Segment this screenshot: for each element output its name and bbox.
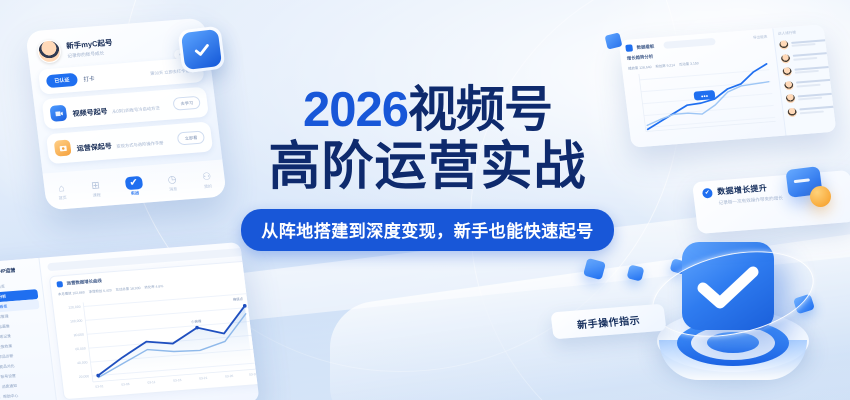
check-circle-icon: ✔ xyxy=(702,187,713,198)
legend-item[interactable]: 转化率 4.8% xyxy=(144,283,163,289)
list-item[interactable] xyxy=(784,77,837,90)
hero-3d-check xyxy=(645,238,820,390)
avatar xyxy=(779,40,789,50)
sidebar-item-label: 账号设置 xyxy=(0,373,16,379)
svg-text:03-11: 03-11 xyxy=(147,380,156,385)
avatar xyxy=(787,107,797,117)
legend-item[interactable]: 本月播放 102,880 xyxy=(58,289,85,296)
sidebar-item-label: 帮助中心 xyxy=(3,393,19,399)
grid-icon: ⊞ xyxy=(91,180,101,192)
legend-item[interactable]: 净增粉丝 6,420 xyxy=(88,287,112,294)
dashboard-left-main: 运营数据增长曲线 本月播放 102,880 净增粉丝 6,420 互动总量 18… xyxy=(39,242,259,400)
svg-text:120,000: 120,000 xyxy=(68,305,81,310)
nav-label: 消息 xyxy=(169,186,178,193)
nav-label: 我的 xyxy=(203,183,213,190)
svg-text:03-26: 03-26 xyxy=(225,374,234,379)
contact-name xyxy=(793,52,834,61)
svg-text:100,000: 100,000 xyxy=(70,319,83,324)
banner-canvas: 新手myC起号 记录你的账号成长 心得分享 已认证 打卡 第30天 立即去打卡记… xyxy=(0,0,850,400)
svg-text:03-01: 03-01 xyxy=(95,384,104,389)
svg-text:03-06: 03-06 xyxy=(121,382,130,387)
svg-text:40,000: 40,000 xyxy=(77,360,88,365)
avatar xyxy=(782,67,792,77)
shield-check-icon: ✔ xyxy=(125,176,143,190)
tip-label: 新手操作指示 xyxy=(576,312,641,332)
list-item-button[interactable]: 立即看 xyxy=(177,130,205,145)
contact-name xyxy=(791,39,832,48)
brand-name: 数据看板 xyxy=(636,43,654,50)
subtitle-pill: 从阵地搭建到深度变现，新手也能快速起号 xyxy=(241,209,614,251)
card-title: 增长趋势分析 xyxy=(627,54,654,62)
search-input[interactable] xyxy=(663,38,716,49)
list-item-sub: 从0到1的账号冷启动方法 xyxy=(112,105,160,114)
dashboard-right: 数据看板 导出报表 增长趋势分析 播放量 128,640 粉丝数 9,214 互… xyxy=(619,24,837,147)
nav-item-messages[interactable]: ◷ 消息 xyxy=(167,174,178,193)
svg-text:80,000: 80,000 xyxy=(73,333,84,338)
sidebar-item-label: 增长看板 xyxy=(0,304,8,310)
list-item-sub: 变现方式与进阶操作手册 xyxy=(116,140,164,149)
list-item[interactable] xyxy=(787,104,836,117)
chart-card: 运营数据增长曲线 本月播放 102,880 净增粉丝 6,420 互动总量 18… xyxy=(49,260,260,400)
contact-name xyxy=(794,65,835,74)
contacts-title: 达人排行榜 xyxy=(778,28,830,37)
nav-label: 课程 xyxy=(92,192,101,199)
sphere-decoration xyxy=(810,186,831,207)
legend-item[interactable]: 粉丝数 9,214 xyxy=(655,62,675,69)
clock-icon: ◷ xyxy=(167,174,177,186)
check-app-icon xyxy=(178,26,226,74)
decorative-cube xyxy=(627,264,645,281)
sidebar-item-label: 竞品对比 xyxy=(0,364,15,370)
list-item[interactable] xyxy=(785,90,836,103)
sidebar-item-label: 趋势分析 xyxy=(0,294,6,300)
list-item[interactable] xyxy=(781,50,834,63)
bottom-navigation: ⌂ 首页 ⊞ 课程 ✔ 实战 ◷ 消息 ⚇ 我的 xyxy=(43,160,227,211)
sidebar-item-label: 作品诊断 xyxy=(0,354,14,360)
svg-text:03-31: 03-31 xyxy=(249,372,258,377)
nav-item-profile[interactable]: ⚇ 我的 xyxy=(202,171,213,190)
chart-icon xyxy=(56,281,63,287)
video-icon xyxy=(49,105,67,122)
right-dashboard-chart: ●●● xyxy=(629,62,779,139)
svg-text:●●●: ●●● xyxy=(701,93,709,99)
avatar xyxy=(36,39,62,64)
brand-icon xyxy=(625,44,633,51)
brand-name: 新手IP运营 xyxy=(0,267,16,276)
legend-item[interactable]: 播放量 128,640 xyxy=(628,64,652,71)
nav-item-home[interactable]: ⌂ 首页 xyxy=(57,183,67,201)
list-item-button[interactable]: 去学习 xyxy=(173,96,201,111)
contact-name xyxy=(799,106,836,115)
sidebar-item-label: 变现记录 xyxy=(0,334,11,340)
title-year: 2026 xyxy=(303,83,408,137)
svg-text:20,000: 20,000 xyxy=(79,374,90,379)
svg-text:03-21: 03-21 xyxy=(199,376,208,381)
sidebar-item-label: 粉丝画像 xyxy=(0,324,10,330)
card-title: 运营数据增长曲线 xyxy=(66,278,102,287)
sidebar-item-label: 数据总览 xyxy=(0,284,5,290)
list-item-title: 运营保起号 xyxy=(77,143,113,153)
title-line-1-rest: 视频号 xyxy=(408,83,552,137)
svg-text:03-16: 03-16 xyxy=(173,378,182,383)
monetize-icon xyxy=(54,139,72,156)
list-item[interactable]: 运营保起号 变现方式与进阶操作手册 立即看 xyxy=(46,121,213,164)
contact-name xyxy=(796,79,836,88)
chart-marker-label: 峰值点 xyxy=(232,296,243,302)
dashboard-left: ✔ 新手IP运营 数据总览 趋势分析 增长看板 内容管理 粉丝画像 变现记录 投… xyxy=(0,242,259,400)
dashboard-right-main: 数据看板 导出报表 增长趋势分析 播放量 128,640 粉丝数 9,214 互… xyxy=(619,28,786,147)
nav-label: 首页 xyxy=(58,195,67,202)
legend-item[interactable]: 互动总量 18,930 xyxy=(115,285,140,292)
brand: ✔ 新手IP运营 xyxy=(0,264,35,277)
decorative-cube xyxy=(583,258,606,280)
list-item-title: 视频号起号 xyxy=(72,108,108,118)
avatar xyxy=(785,94,795,104)
contact-name xyxy=(798,92,837,101)
sidebar-item-label: 投放效果 xyxy=(0,344,12,350)
chart-marker-label: 小高峰 xyxy=(191,318,202,324)
sidebar-item-label: 内容管理 xyxy=(0,314,9,320)
avatar xyxy=(781,54,791,64)
user-icon: ⚇ xyxy=(202,171,212,183)
nav-item-practice[interactable]: ✔ 实战 xyxy=(125,176,144,197)
sidebar-item-label: 消息通知 xyxy=(2,383,18,389)
title-line-1: 2026视频号 xyxy=(215,86,640,136)
legend-item[interactable]: 互动量 3,150 xyxy=(679,60,699,67)
left-dashboard-chart: 120,000100,000 80,00060,000 40,00020,000… xyxy=(58,283,259,393)
avatar xyxy=(784,80,794,90)
list-item[interactable] xyxy=(779,37,832,50)
nav-label: 实战 xyxy=(127,190,144,197)
verified-chip: 已认证 xyxy=(46,73,79,88)
export-button[interactable]: 导出报表 xyxy=(753,35,768,41)
badge-title: 数据增长提升 xyxy=(717,183,768,198)
nav-item-courses[interactable]: ⊞ 课程 xyxy=(91,180,102,199)
list-item[interactable] xyxy=(782,64,835,77)
home-icon: ⌂ xyxy=(57,183,66,195)
hero-headline: 2026视频号 高阶运营实战 从阵地搭建到深度变现，新手也能快速起号 xyxy=(215,86,640,251)
quick-action-text: 打卡 xyxy=(83,74,95,83)
title-line-2: 高阶运营实战 xyxy=(215,140,640,195)
svg-text:60,000: 60,000 xyxy=(75,346,86,351)
